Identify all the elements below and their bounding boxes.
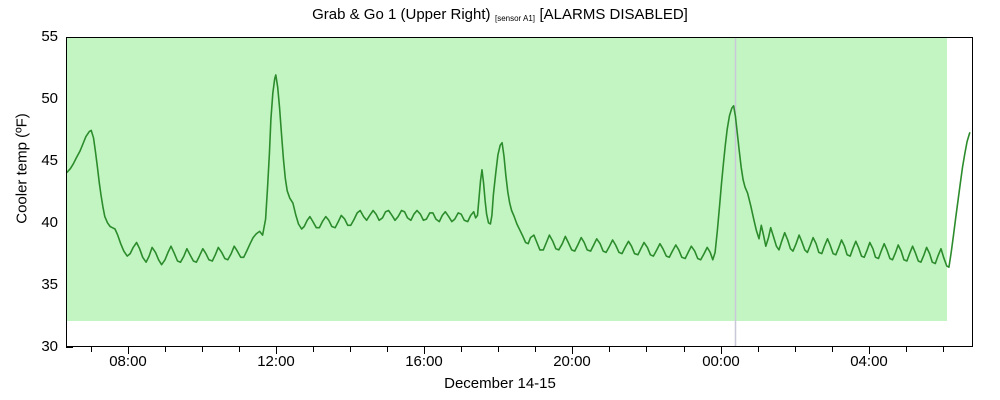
x-tick-label-0800: 08:00 [88,353,168,370]
x-tick-label-2000: 20:00 [532,353,612,370]
cooler-temp-line [67,75,970,267]
plot-area [66,37,973,347]
x-tick-label-0000: 00:00 [681,353,761,370]
x-tick-label-0400: 04:00 [829,353,909,370]
temperature-chart: Grab & Go 1 (Upper Right) [sensor A1] [A… [0,0,1000,400]
chart-title: Grab & Go 1 (Upper Right) [sensor A1] [A… [0,6,1000,24]
y-tick-label-40: 40 [18,216,58,230]
x-tick-label-1200: 12:00 [236,353,316,370]
y-tick-label-55: 55 [18,30,58,44]
series-canvas [67,38,972,346]
chart-title-main: Grab & Go 1 (Upper Right) [312,6,490,23]
chart-title-alarm-status: [ALARMS DISABLED] [539,6,687,23]
x-axis-title: December 14-15 [0,375,1000,392]
y-tick-label-50: 50 [18,92,58,106]
y-tick-label-30: 30 [18,340,58,354]
x-tick-label-1600: 16:00 [384,353,464,370]
chart-title-sensor: [sensor A1] [495,14,535,23]
y-tick-label-35: 35 [18,278,58,292]
y-axis-tick-labels: 55 50 45 40 35 30 [14,0,58,400]
y-tick-label-45: 45 [18,154,58,168]
